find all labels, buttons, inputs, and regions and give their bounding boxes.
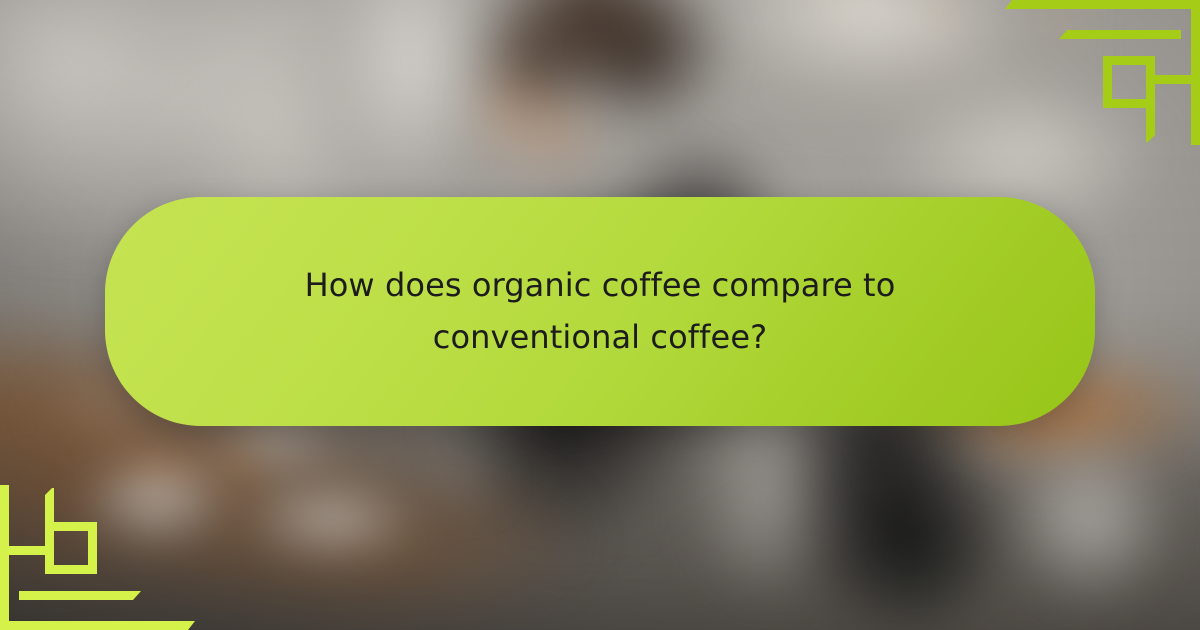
share-card-canvas: How does organic coffee compare to conve… [0,0,1200,630]
question-text: How does organic coffee compare to conve… [270,260,930,364]
question-card: How does organic coffee compare to conve… [105,197,1095,426]
